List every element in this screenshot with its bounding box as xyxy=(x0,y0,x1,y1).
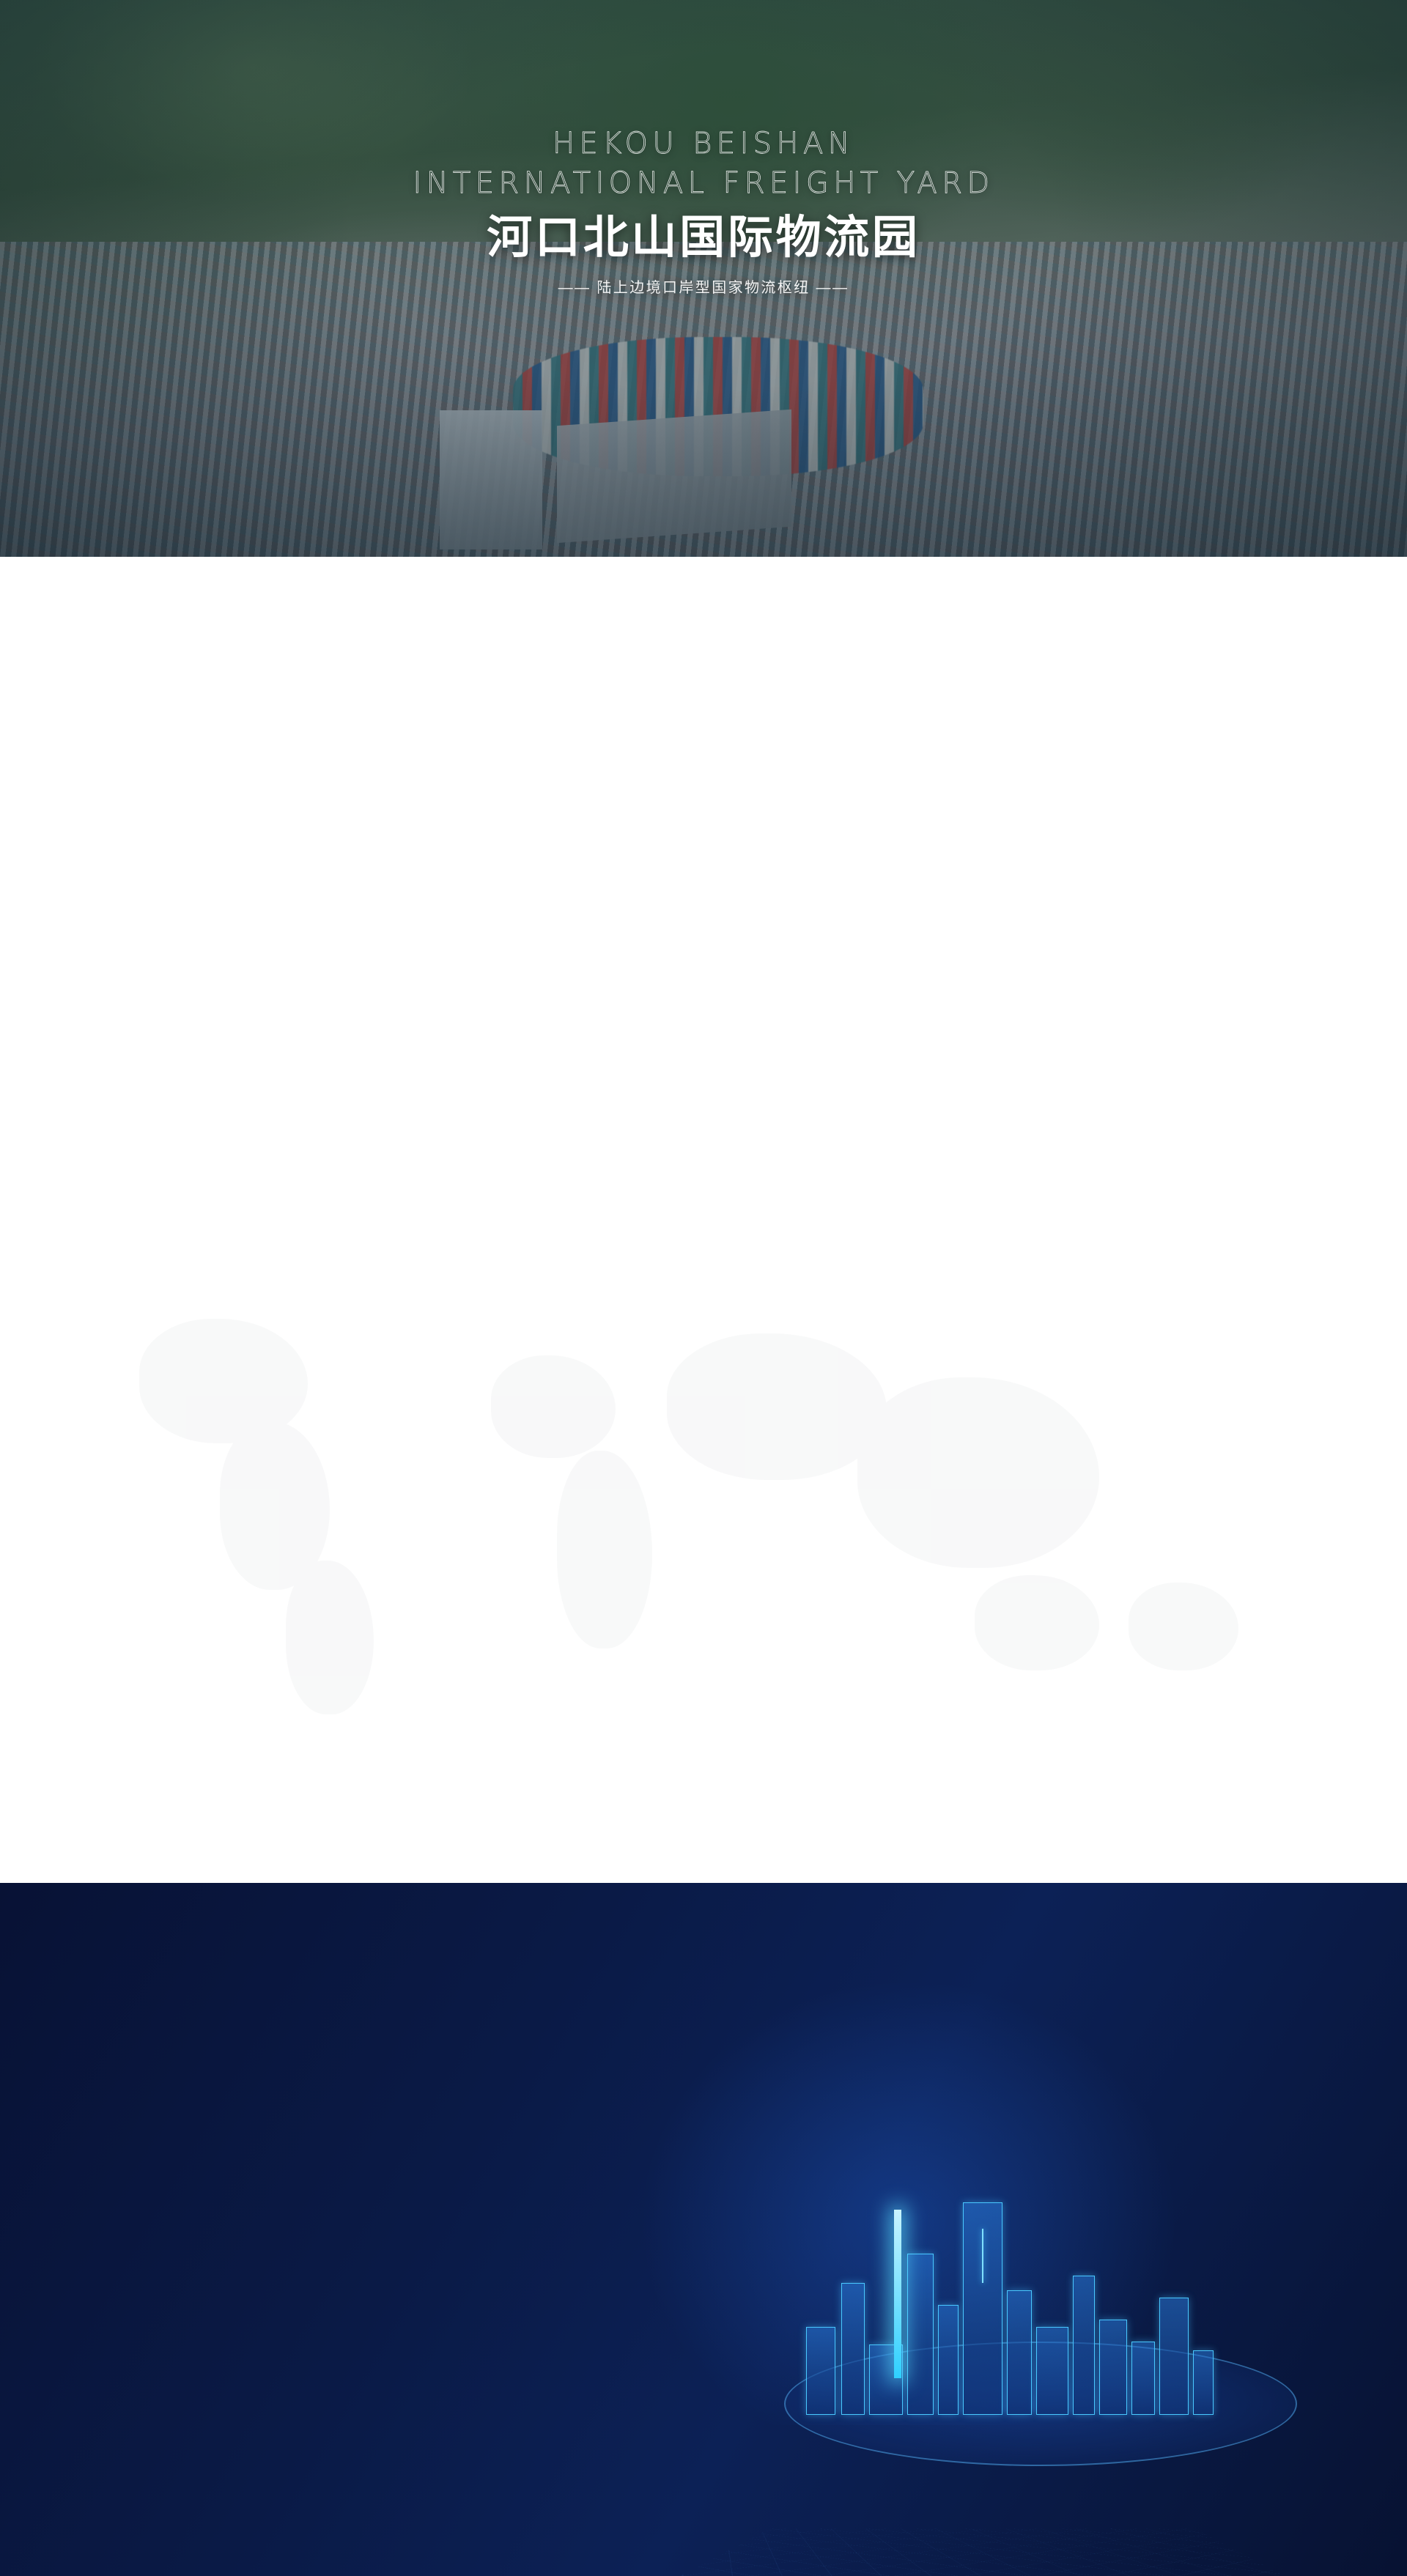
hero-en-line1: HEKOU BEISHAN xyxy=(553,126,854,162)
introduction-section: INTRODUCTION 园区简介 河口区域已布局北山国际货场、边民互市等项目，… xyxy=(0,557,1407,1150)
main-business-section: MAIN BUSINESS —— 业务板块 —— 泛亚铁路东线-河口北山国际物流… xyxy=(0,1150,1407,1883)
world-map-watermark xyxy=(110,1267,1297,1780)
network-mesh-graphic xyxy=(513,2528,1407,2576)
hero-title-cn: 河口北山国际物流园 xyxy=(487,212,920,264)
hero-banner: HEKOU BEISHAN INTERNATIONAL FREIGHT YARD… xyxy=(0,0,1407,557)
stats-section: INTERNATIONAL FREIGHT YARD 河口北山国际物流园 357… xyxy=(0,1883,1407,2576)
hero-subtitle-cn: —— 陆上边境口岸型国家物流枢纽 —— xyxy=(558,275,849,297)
hero-en-line2: INTERNATIONAL FREIGHT YARD xyxy=(413,165,994,201)
hero-text-block: HEKOU BEISHAN INTERNATIONAL FREIGHT YARD… xyxy=(0,0,1407,557)
city-skyline-graphic xyxy=(784,2085,1297,2466)
